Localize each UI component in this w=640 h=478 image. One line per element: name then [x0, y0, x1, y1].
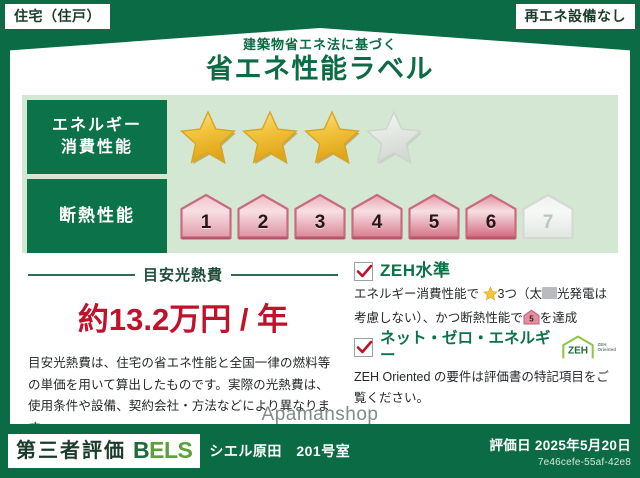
rule-right	[231, 274, 338, 276]
claim-net-zero-energy-body: ZEH Oriented の要件は評価書の特記項目をご覧ください。	[354, 367, 616, 408]
insulation-performance-label: 断熱性能	[59, 205, 135, 228]
evaluation-id: 7e46cefe-55af-42e8	[489, 457, 631, 468]
energy-performance-label-line1: エネルギー	[52, 115, 142, 137]
insulation-performance-value: 1234567	[167, 179, 613, 253]
energy-performance-label: 住宅（住戸） 再エネ設備なし 建築物省エネ法に基づく 省エネ性能ラベル エネルギ…	[0, 0, 640, 478]
house-icon-filled: 6	[464, 192, 518, 240]
house-icon-filled: 1	[179, 192, 233, 240]
house-icon-filled: 5	[407, 192, 461, 240]
third-party-evaluation-label: 第三者評価	[16, 441, 126, 461]
zeh-oriented-line2: Oriented	[597, 347, 616, 352]
claim-zeh-level-body: エネルギー消費性能で 3つ（太光発電は考慮しない）、かつ断熱性能で 5 を達成	[354, 284, 616, 328]
rule-left	[28, 274, 135, 276]
property-unit-name: シエル原田 201号室	[209, 441, 350, 461]
bels-logo-els: ELS	[149, 437, 192, 463]
claim-net-zero-energy-title: ネット・ゼロ・エネルギー	[380, 330, 554, 364]
cost-heading: 目安光熱費	[28, 264, 338, 285]
evaluation-date: 評価日 2025年5月20日	[489, 434, 631, 454]
star-icon-filled	[241, 109, 299, 165]
star-icon-filled	[179, 109, 237, 165]
house-icon-filled: 2	[236, 192, 290, 240]
cost-value: 約13.2万円 / 年	[28, 294, 338, 339]
check-icon	[354, 338, 373, 357]
badge-renewable-equipment: 再エネ設備なし	[516, 4, 636, 29]
house-level-number: 7	[521, 212, 575, 234]
star-icon-empty	[365, 109, 423, 165]
claim-net-zero-energy: ネット・ゼロ・エネルギー ZEH ZEH Oriented	[354, 330, 616, 408]
claim-zeh-level-title: ZEH水準	[380, 262, 451, 281]
star-rating	[179, 109, 423, 165]
cost-column: 目安光熱費 約13.2万円 / 年 目安光熱費は、住宅の省エネ性能と全国一律の燃…	[22, 260, 344, 420]
house-icon-filled: 3	[293, 192, 347, 240]
bels-logo: BELS	[133, 439, 192, 462]
claim-zeh-level: ZEH水準 エネルギー消費性能で 3つ（太光発電は考慮しない）、かつ断熱性能で …	[354, 262, 616, 328]
claim-net-zero-energy-head: ネット・ゼロ・エネルギー ZEH ZEH Oriented	[354, 330, 616, 364]
claims-column: ZEH水準 エネルギー消費性能で 3つ（太光発電は考慮しない）、かつ断熱性能で …	[344, 260, 618, 420]
energy-performance-label-line2: 消費性能	[61, 137, 133, 159]
house-level-number: 6	[464, 212, 518, 234]
bels-logo-b: B	[133, 437, 149, 463]
roof-shape	[10, 28, 630, 90]
house-icon-filled: 4	[350, 192, 404, 240]
evaluation-info: 評価日 2025年5月20日 7e46cefe-55af-42e8	[489, 434, 631, 468]
row-insulation-performance: 断熱性能 1234567	[27, 179, 613, 253]
svg-text:ZEH: ZEH	[568, 345, 588, 356]
insulation-chip-icon: 5	[523, 309, 540, 324]
performance-block: エネルギー 消費性能 断熱性能 1234567	[22, 95, 618, 253]
claim-text-part1: エネルギー消費性能で	[354, 287, 479, 301]
star-icon-filled	[303, 109, 361, 165]
bels-plate: 第三者評価 BELS	[8, 434, 200, 468]
star-icon	[479, 290, 497, 304]
claim-text-part2: 3つ（太	[498, 287, 542, 301]
badge-building-type: 住宅（住戸）	[5, 4, 110, 29]
insulation-scale: 1234567	[179, 192, 575, 240]
insulation-performance-tag: 断熱性能	[27, 179, 167, 253]
claim-zeh-level-head: ZEH水準	[354, 262, 616, 281]
claim-text-part4: を達成	[540, 311, 578, 325]
row-energy-performance: エネルギー 消費性能	[27, 100, 613, 174]
footer-bar: 第三者評価 BELS シエル原田 201号室 評価日 2025年5月20日 7e…	[0, 424, 640, 478]
check-icon	[354, 262, 373, 281]
label-body: エネルギー 消費性能 断熱性能 1234567	[10, 88, 630, 424]
house-icon-empty: 7	[521, 192, 575, 240]
energy-performance-tag: エネルギー 消費性能	[27, 100, 167, 174]
zeh-logo-icon: ZEH ZEH Oriented	[561, 335, 616, 360]
house-level-number: 4	[350, 212, 404, 234]
lower-section: 目安光熱費 約13.2万円 / 年 目安光熱費は、住宅の省エネ性能と全国一律の燃…	[22, 260, 618, 420]
house-level-number: 3	[293, 212, 347, 234]
zeh-oriented-caption: ZEH Oriented	[597, 342, 616, 352]
house-level-number: 5	[407, 212, 461, 234]
cost-heading-text: 目安光熱費	[143, 264, 223, 285]
energy-performance-value	[167, 100, 613, 174]
redacted-block	[542, 287, 557, 299]
svg-text:5: 5	[529, 314, 534, 323]
house-level-number: 1	[179, 212, 233, 234]
house-level-number: 2	[236, 212, 290, 234]
